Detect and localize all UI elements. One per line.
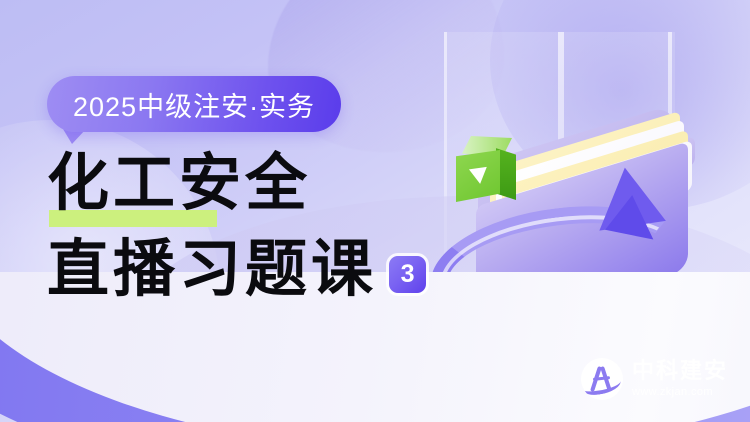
episode-number-badge: 3 <box>389 256 426 293</box>
brand-name: 中科建安 <box>632 360 728 382</box>
badge-label: 2025中级注安·实务 <box>73 85 315 124</box>
green-play-cube-icon <box>456 136 518 202</box>
headline-line-2: 直播习题课 <box>47 238 377 302</box>
headline-row-2: 直播习题课 3 <box>47 238 447 302</box>
headline-row-1: 化工安全 <box>47 152 447 216</box>
course-category-badge: 2025中级注安·实务 <box>47 76 341 132</box>
brand-text: 中科建安 www.zkjan.com <box>632 360 728 398</box>
brand-logo: 中科建安 www.zkjan.com <box>581 358 728 400</box>
course-promo-banner: 2025中级注安·实务 化工安全 直播习题课 3 中科建安 www.zkjan.… <box>0 0 750 422</box>
logo-swoosh <box>582 374 622 397</box>
play-triangle-icon <box>469 167 489 185</box>
headline-block: 化工安全 直播习题课 3 <box>47 152 447 302</box>
brand-website: www.zkjan.com <box>632 387 728 398</box>
headline-line-1: 化工安全 <box>47 152 311 216</box>
person-swoosh-icon <box>581 358 623 400</box>
